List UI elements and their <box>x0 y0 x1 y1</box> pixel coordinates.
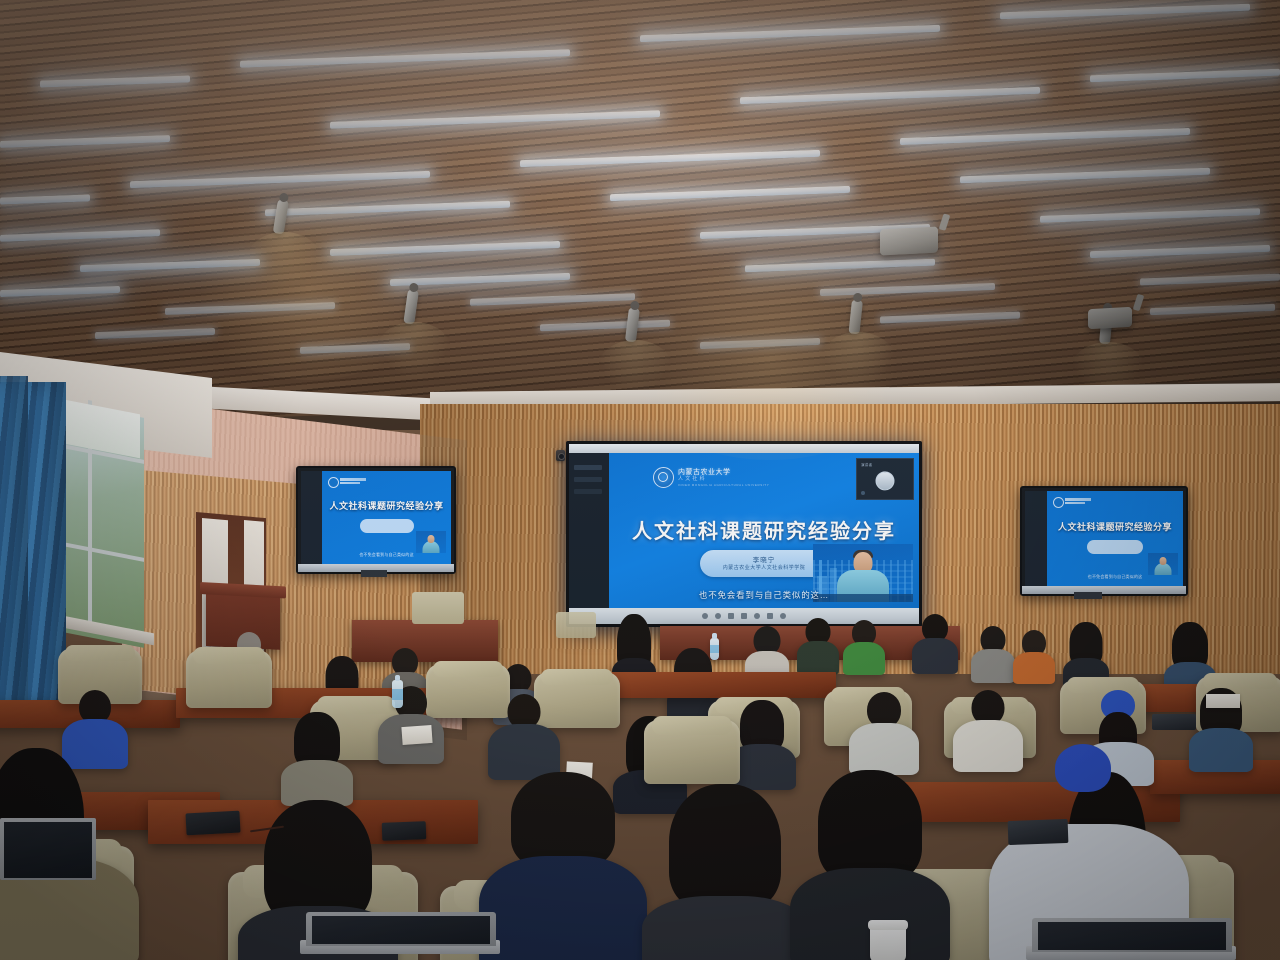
camera-icon[interactable] <box>715 613 721 619</box>
left-display-title: 人文社科课题研究经验分享 <box>322 499 451 512</box>
leave-meeting-icon[interactable] <box>780 613 786 619</box>
participant-name-label: 演讲者 <box>861 463 872 468</box>
right-display-screen: 人文社科课题研究经验分享 也不免会看到与自己类似的这 <box>1025 491 1183 586</box>
share-screen-icon[interactable] <box>728 613 734 619</box>
screen-top-bezel <box>569 444 919 453</box>
attendee <box>498 772 628 960</box>
attendee <box>1016 630 1052 684</box>
right-display-stand <box>1074 592 1102 599</box>
left-display-screen: 人文社科课题研究经验分享 也不免会看到与自己类似的这 <box>301 471 451 564</box>
attendee <box>498 694 550 778</box>
water-bottle[interactable] <box>392 680 403 708</box>
screen-display-area: 内蒙古农业大学 人 文 社 科 INNER MONGOLIA AGRICULTU… <box>569 453 919 608</box>
chair <box>186 650 272 708</box>
right-display-presenter-video <box>1148 553 1178 575</box>
desk-row <box>606 672 836 698</box>
document-page[interactable] <box>401 725 432 745</box>
left-display-logo-icon <box>328 477 339 488</box>
attendee <box>660 784 790 960</box>
participants-icon[interactable] <box>741 613 747 619</box>
logo-name-cn: 内蒙古农业大学 <box>678 469 769 476</box>
chat-icon[interactable] <box>754 613 760 619</box>
mic-status-icon <box>861 491 865 495</box>
attendee <box>846 620 882 676</box>
tablet-device[interactable] <box>1008 819 1069 845</box>
ceiling-projector <box>1088 307 1132 329</box>
mic-icon[interactable] <box>702 613 708 619</box>
left-display-presenter-video <box>416 531 446 553</box>
laptop-screen <box>1038 922 1226 950</box>
right-display-speaker-pill <box>1087 540 1143 554</box>
window-curtain <box>0 376 28 726</box>
smartphone[interactable] <box>185 811 240 836</box>
attendee <box>974 626 1012 682</box>
right-display-title: 人文社科课题研究经验分享 <box>1047 520 1183 533</box>
left-display-tv: 人文社科课题研究经验分享 也不免会看到与自己类似的这 <box>296 466 456 574</box>
university-seal-icon <box>653 467 674 488</box>
right-display-caption: 也不免会看到与自己类似的这 <box>1047 574 1183 580</box>
chair <box>644 720 740 784</box>
left-display-caption: 也不免会看到与自己类似的这 <box>322 552 451 558</box>
slide-title: 人文社科课题研究经验分享 <box>609 515 919 544</box>
wall-camera-icon <box>556 450 565 461</box>
laptop-screen <box>4 822 92 878</box>
conference-room-photo: 人文社科课题研究经验分享 也不免会看到与自己类似的这 人文社科课题研究经验分享 … <box>0 0 1280 960</box>
speaker-info-pill: 李晓宁 内蒙古农业大学人文社会科学学院 <box>700 550 828 577</box>
ceiling-projector <box>880 226 938 255</box>
attendee <box>800 618 836 676</box>
logo-name-cn-sub: 人 文 社 科 <box>678 477 769 482</box>
left-display-speaker-pill <box>360 519 414 533</box>
attendee <box>736 700 788 782</box>
participant-avatar <box>876 471 895 490</box>
institution-logo: 内蒙古农业大学 人 文 社 科 INNER MONGOLIA AGRICULTU… <box>653 467 769 488</box>
participant-thumbnail[interactable]: 演讲者 <box>856 458 914 500</box>
stage-chair <box>556 612 596 638</box>
logo-name-en: INNER MONGOLIA AGRICULTURAL UNIVERSITY <box>678 483 769 487</box>
tablet-device[interactable] <box>1152 714 1196 730</box>
document-page[interactable] <box>1206 694 1240 708</box>
attendee <box>962 690 1014 770</box>
coffee-cup[interactable] <box>870 922 906 960</box>
attendee <box>858 692 910 772</box>
smartphone[interactable] <box>382 821 427 841</box>
right-display-tv: 人文社科课题研究经验分享 也不免会看到与自己类似的这 <box>1020 486 1188 596</box>
live-caption-text: 也不免会看到与自己类似的这… <box>609 589 919 601</box>
more-options-icon[interactable] <box>767 613 773 619</box>
laptop-screen <box>312 916 490 944</box>
speaker-name: 李晓宁 <box>753 557 776 564</box>
attendee <box>290 712 344 796</box>
speaker-organization: 内蒙古农业大学人文社会科学学院 <box>723 565 806 571</box>
stage-table <box>352 620 498 662</box>
left-display-stand <box>361 570 387 577</box>
attendee <box>916 614 954 674</box>
right-display-logo-icon <box>1053 497 1064 508</box>
presentation-slide: 内蒙古农业大学 人 文 社 科 INNER MONGOLIA AGRICULTU… <box>609 453 919 608</box>
main-projection-screen: 内蒙古农业大学 人 文 社 科 INNER MONGOLIA AGRICULTU… <box>566 441 922 627</box>
conference-sidebar <box>569 453 609 608</box>
water-bottle[interactable] <box>710 638 719 660</box>
stage-chair <box>412 592 464 624</box>
